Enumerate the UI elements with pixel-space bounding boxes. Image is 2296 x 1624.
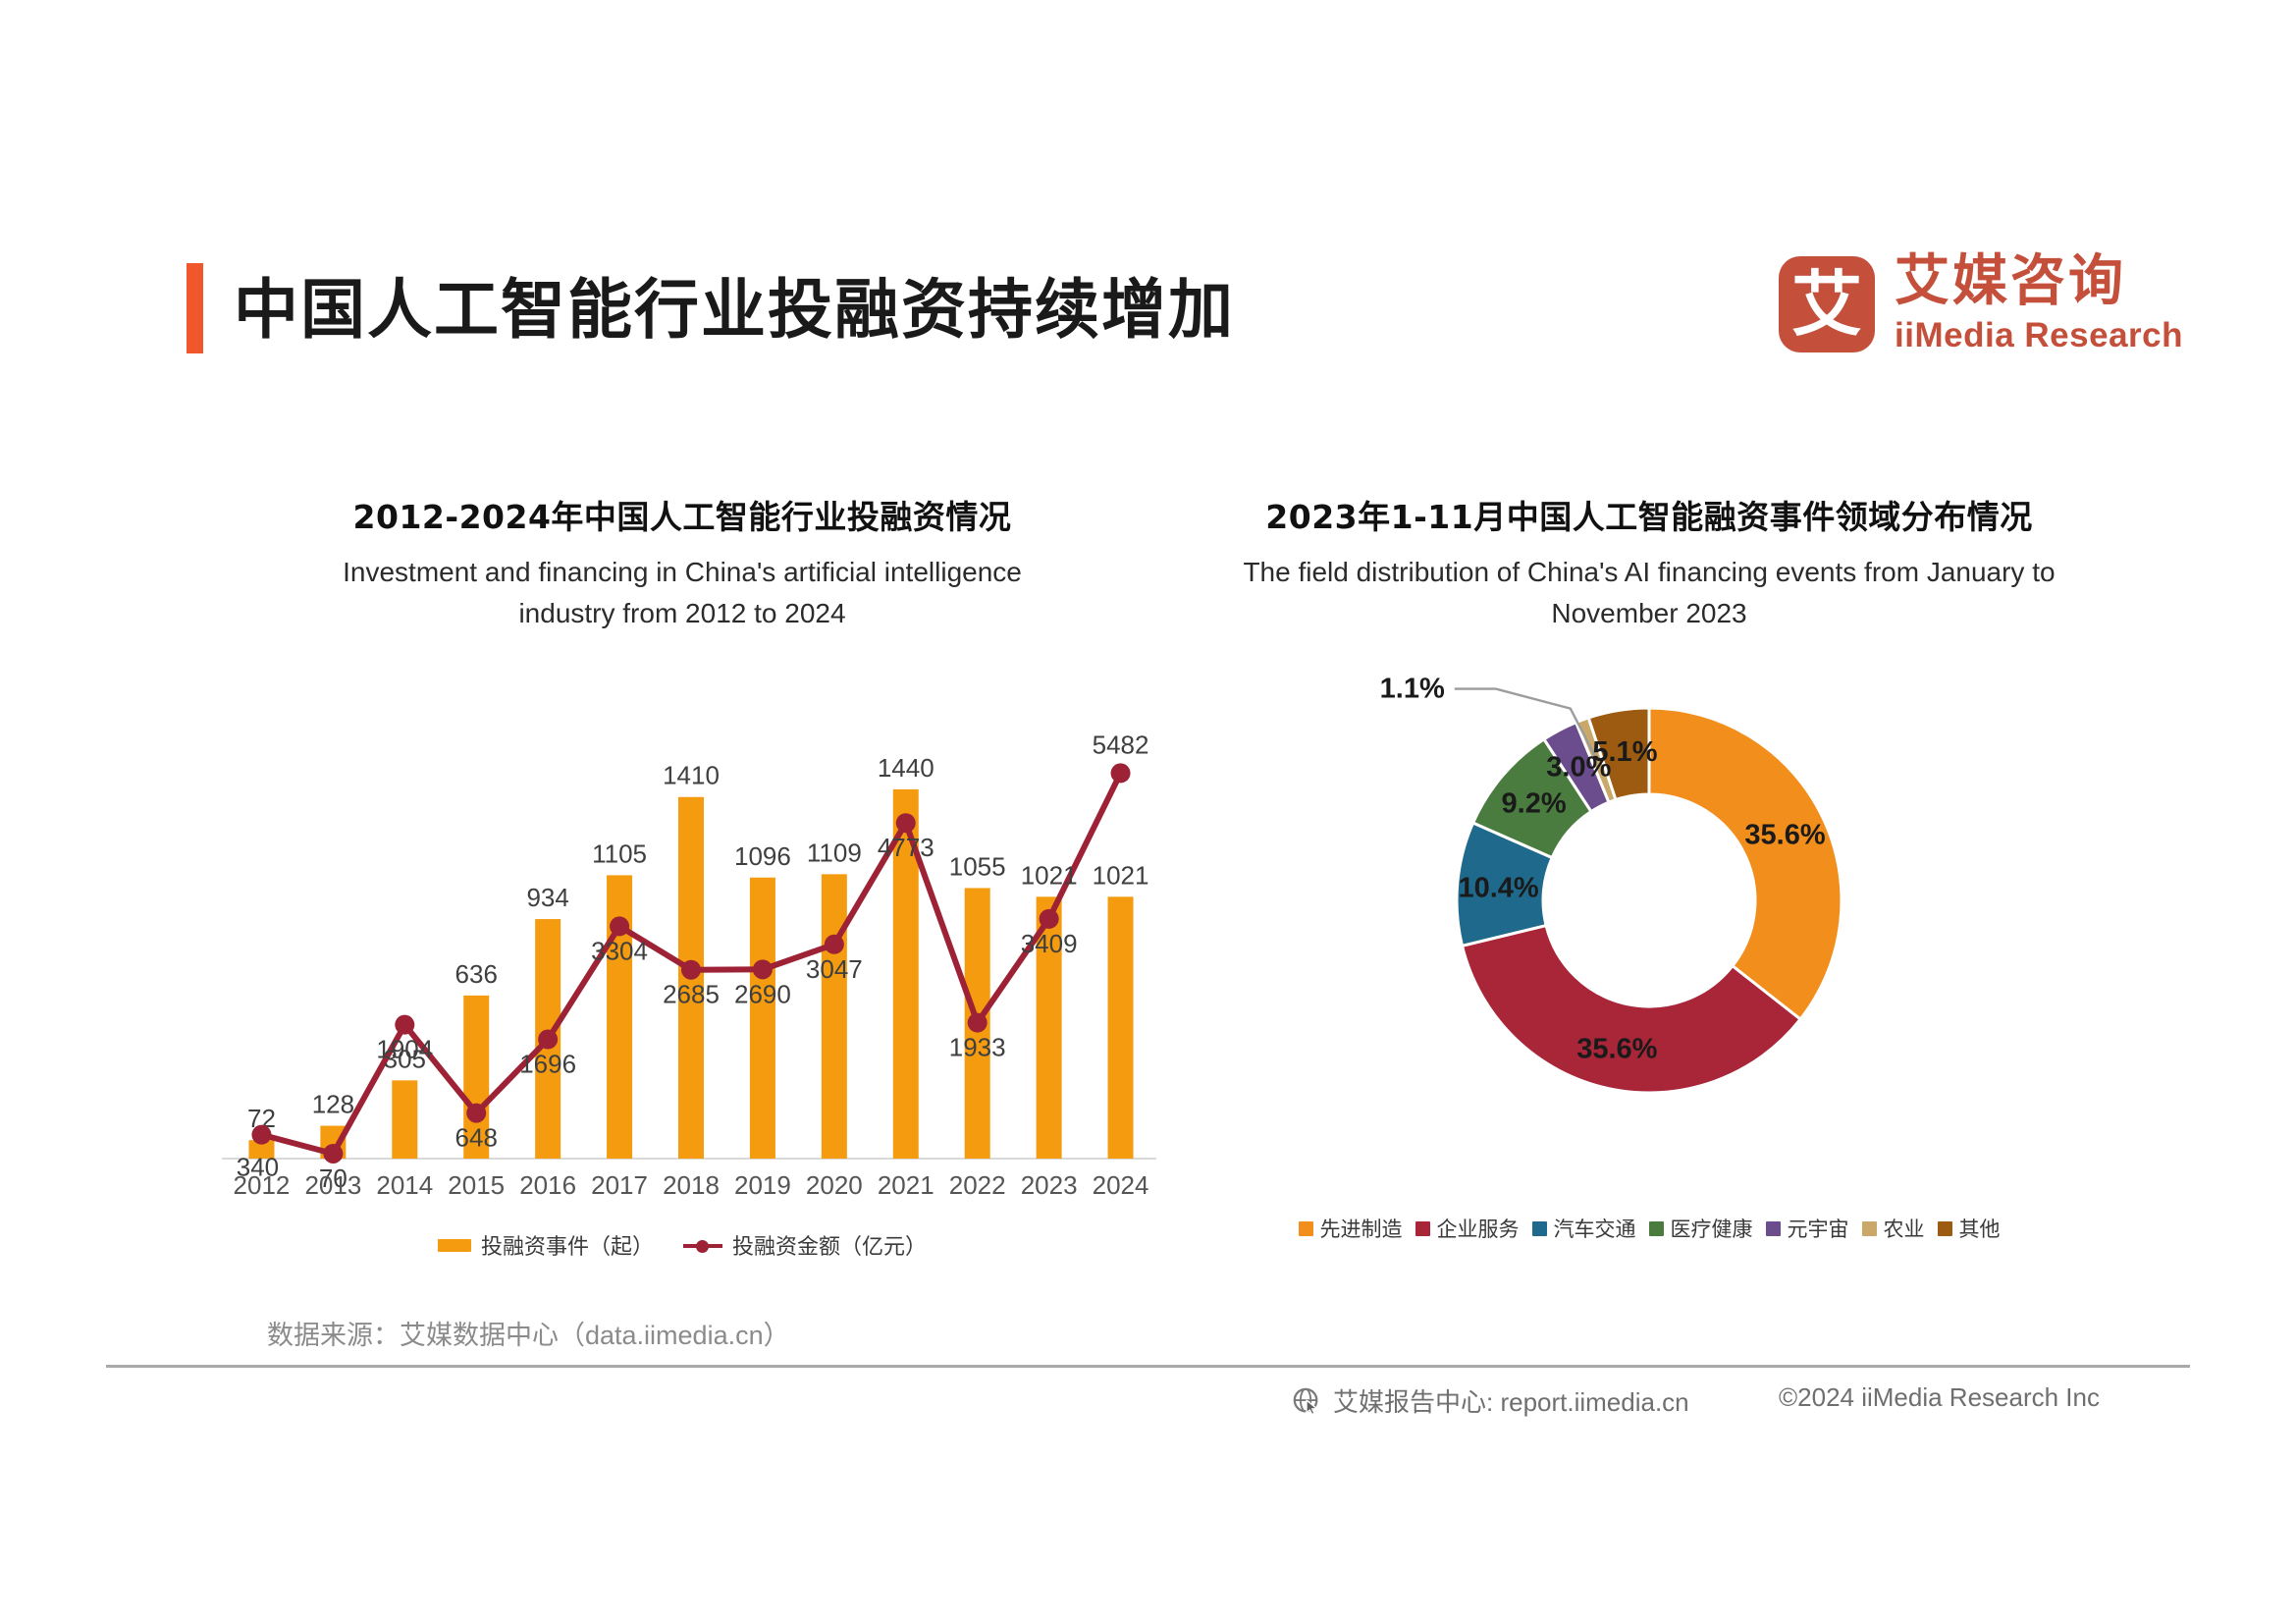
line-point <box>968 1013 988 1033</box>
donut-legend-label: 元宇宙 <box>1788 1214 1849 1243</box>
line-value-label: 4773 <box>878 833 934 862</box>
legend-item-events[interactable]: 投融资事件（起） <box>438 1229 654 1261</box>
right-chart-title-en: The field distribution of China's AI fin… <box>1158 552 2140 634</box>
bar-value-label: 128 <box>312 1090 354 1119</box>
legend-label-events: 投融资事件（起） <box>481 1229 654 1261</box>
donut-legend-label: 汽车交通 <box>1554 1214 1636 1243</box>
donut-chart: 35.6%35.6%10.4%9.2%3.0%1.1%5.1% <box>1158 660 2140 1210</box>
line-value-label: 3304 <box>591 936 648 965</box>
line-point <box>753 959 773 979</box>
donut-legend-swatch-icon <box>1938 1221 1952 1236</box>
donut-legend-item[interactable]: 元宇宙 <box>1766 1214 1849 1243</box>
donut-legend-item[interactable]: 农业 <box>1862 1214 1925 1243</box>
right-chart-title-en-line1: The field distribution of China's AI fin… <box>1243 557 2055 587</box>
line-value-label: 3047 <box>806 954 863 984</box>
line-value-label: 3409 <box>1021 929 1078 958</box>
right-chart-title-cn: 2023年1-11月中国人工智能融资事件领域分布情况 <box>1158 491 2140 538</box>
x-axis-tick-label: 2023 <box>1021 1170 1078 1200</box>
bar-value-label: 1055 <box>949 851 1006 881</box>
donut-slice-label: 35.6% <box>1576 1033 1657 1064</box>
line-point <box>1111 763 1131 783</box>
logo-text: 艾媒咨询 iiMedia Research <box>1895 253 2183 356</box>
line-point <box>681 960 701 980</box>
combo-chart-svg: 7212830563693411051410109611091440105510… <box>187 664 1178 1214</box>
line-point <box>251 1125 271 1145</box>
donut-legend-label: 其他 <box>1959 1214 2001 1243</box>
x-axis-tick-label: 2019 <box>734 1170 791 1200</box>
donut-slice-label: 5.1% <box>1592 736 1657 768</box>
right-chart-title-en-line2: November 2023 <box>1551 598 1746 628</box>
bar-value-label: 1021 <box>1093 860 1149 890</box>
left-chart-title-en-line2: industry from 2012 to 2024 <box>518 598 845 628</box>
bar-value-label: 934 <box>526 883 568 912</box>
donut-legend-label: 先进制造 <box>1320 1214 1403 1243</box>
x-axis-tick-label: 2020 <box>806 1170 863 1200</box>
donut-legend-swatch-icon <box>1532 1221 1547 1236</box>
line-value-label: 1933 <box>949 1033 1006 1062</box>
globe-cursor-icon <box>1292 1386 1321 1416</box>
donut-legend-swatch-icon <box>1766 1221 1781 1236</box>
donut-slice-label: 35.6% <box>1744 820 1825 851</box>
donut-callout-label: 1.1% <box>1380 674 1445 705</box>
line-point <box>1040 909 1059 929</box>
line-point <box>825 935 844 954</box>
line-swatch-icon <box>683 1239 722 1252</box>
bar-column <box>392 1080 417 1159</box>
donut-legend-item[interactable]: 先进制造 <box>1299 1214 1403 1243</box>
line-value-label: 1696 <box>519 1050 576 1079</box>
report-center-text: 艾媒报告中心: report.iimedia.cn <box>1333 1382 1689 1419</box>
bar-value-label: 1096 <box>734 841 791 871</box>
donut-slice-label: 9.2% <box>1502 787 1567 819</box>
x-axis-tick-label: 2016 <box>519 1170 576 1200</box>
bar-value-label: 1440 <box>878 753 934 783</box>
bar-value-label: 1021 <box>1021 860 1078 890</box>
line-point <box>323 1144 343 1164</box>
bar-value-label: 636 <box>455 959 498 989</box>
brand-logo: 艾 艾媒咨询 iiMedia Research <box>1779 253 2183 356</box>
left-chart-title-cn: 2012-2024年中国人工智能行业投融资情况 <box>187 491 1178 538</box>
bar-value-label: 1410 <box>663 761 720 790</box>
donut-legend-item[interactable]: 医疗健康 <box>1649 1214 1753 1243</box>
infographic-page: 中国人工智能行业投融资持续增加 艾 艾媒咨询 iiMedia Research … <box>0 0 2296 1624</box>
donut-legend-swatch-icon <box>1649 1221 1664 1236</box>
logo-name-cn: 艾媒咨询 <box>1895 253 2183 311</box>
logo-glyph: 艾 <box>1779 256 1875 352</box>
left-chart-title-en: Investment and financing in China's arti… <box>187 552 1178 634</box>
bar-column <box>822 874 847 1159</box>
bar-column <box>1108 896 1134 1159</box>
line-point <box>896 813 916 833</box>
page-footer: 艾媒报告中心: report.iimedia.cn ©2024 iiMedia … <box>0 1373 2296 1441</box>
x-axis-tick-label: 2017 <box>591 1170 648 1200</box>
page-title: 中国人工智能行业投融资持续增加 <box>234 257 1235 352</box>
report-center-link[interactable]: 艾媒报告中心: report.iimedia.cn <box>1292 1382 1689 1419</box>
bar-swatch-icon <box>438 1239 471 1252</box>
bar-value-label: 1109 <box>807 838 862 867</box>
line-point <box>538 1030 558 1050</box>
copyright-text: ©2024 iiMedia Research Inc <box>1779 1382 2100 1413</box>
donut-legend-label: 企业服务 <box>1437 1214 1520 1243</box>
legend-label-amount: 投融资金额（亿元） <box>732 1229 927 1261</box>
logo-name-en: iiMedia Research <box>1895 315 2183 356</box>
x-axis-tick-label: 2013 <box>304 1170 361 1200</box>
line-point <box>395 1015 414 1035</box>
left-chart-panel: 2012-2024年中国人工智能行业投融资情况 Investment and f… <box>187 491 1178 1261</box>
line-value-label: 2690 <box>734 979 791 1008</box>
donut-legend-swatch-icon <box>1415 1221 1430 1236</box>
x-axis-tick-label: 2024 <box>1093 1170 1149 1200</box>
donut-legend-label: 农业 <box>1884 1214 1925 1243</box>
donut-legend-label: 医疗健康 <box>1671 1214 1753 1243</box>
bar-value-label: 1105 <box>592 839 647 868</box>
line-point <box>466 1104 486 1123</box>
x-axis-tick-label: 2018 <box>663 1170 720 1200</box>
line-value-label: 2685 <box>663 980 720 1009</box>
donut-chart-svg: 35.6%35.6%10.4%9.2%3.0%1.1%5.1% <box>1158 660 2140 1170</box>
line-value-label: 648 <box>455 1123 498 1153</box>
x-axis-tick-label: 2015 <box>448 1170 505 1200</box>
donut-slice[interactable] <box>1649 708 1842 1019</box>
x-axis-tick-label: 2021 <box>878 1170 934 1200</box>
donut-slice-label: 10.4% <box>1458 872 1538 903</box>
footer-divider <box>106 1365 2190 1368</box>
legend-item-amount[interactable]: 投融资金额（亿元） <box>683 1229 927 1261</box>
x-axis-tick-label: 2014 <box>376 1170 433 1200</box>
left-chart-title-en-line1: Investment and financing in China's arti… <box>343 557 1022 587</box>
data-source-note: 数据来源：艾媒数据中心（data.iimedia.cn） <box>267 1314 790 1352</box>
donut-legend-item[interactable]: 汽车交通 <box>1532 1214 1636 1243</box>
page-header: 中国人工智能行业投融资持续增加 艾 艾媒咨询 iiMedia Research <box>0 0 2296 412</box>
donut-legend-item[interactable]: 其他 <box>1938 1214 2001 1243</box>
combo-chart-legend: 投融资事件（起） 投融资金额（亿元） <box>187 1229 1178 1261</box>
donut-legend-item[interactable]: 企业服务 <box>1415 1214 1520 1243</box>
donut-legend-swatch-icon <box>1862 1221 1877 1236</box>
combo-chart: 7212830563693411051410109611091440105510… <box>187 664 1178 1214</box>
right-chart-panel: 2023年1-11月中国人工智能融资事件领域分布情况 The field dis… <box>1158 491 2140 1243</box>
x-axis-tick-label: 2022 <box>949 1170 1006 1200</box>
title-accent-bar <box>187 263 203 353</box>
line-point <box>610 916 629 936</box>
line-value-label: 5482 <box>1093 730 1149 759</box>
donut-chart-legend: 先进制造企业服务汽车交通医疗健康元宇宙农业其他 <box>1158 1214 2140 1243</box>
x-axis-tick-label: 2012 <box>234 1170 291 1200</box>
line-value-label: 1904 <box>376 1035 433 1064</box>
bar-column <box>750 878 775 1159</box>
donut-legend-swatch-icon <box>1299 1221 1313 1236</box>
logo-mark-icon: 艾 <box>1779 256 1875 352</box>
